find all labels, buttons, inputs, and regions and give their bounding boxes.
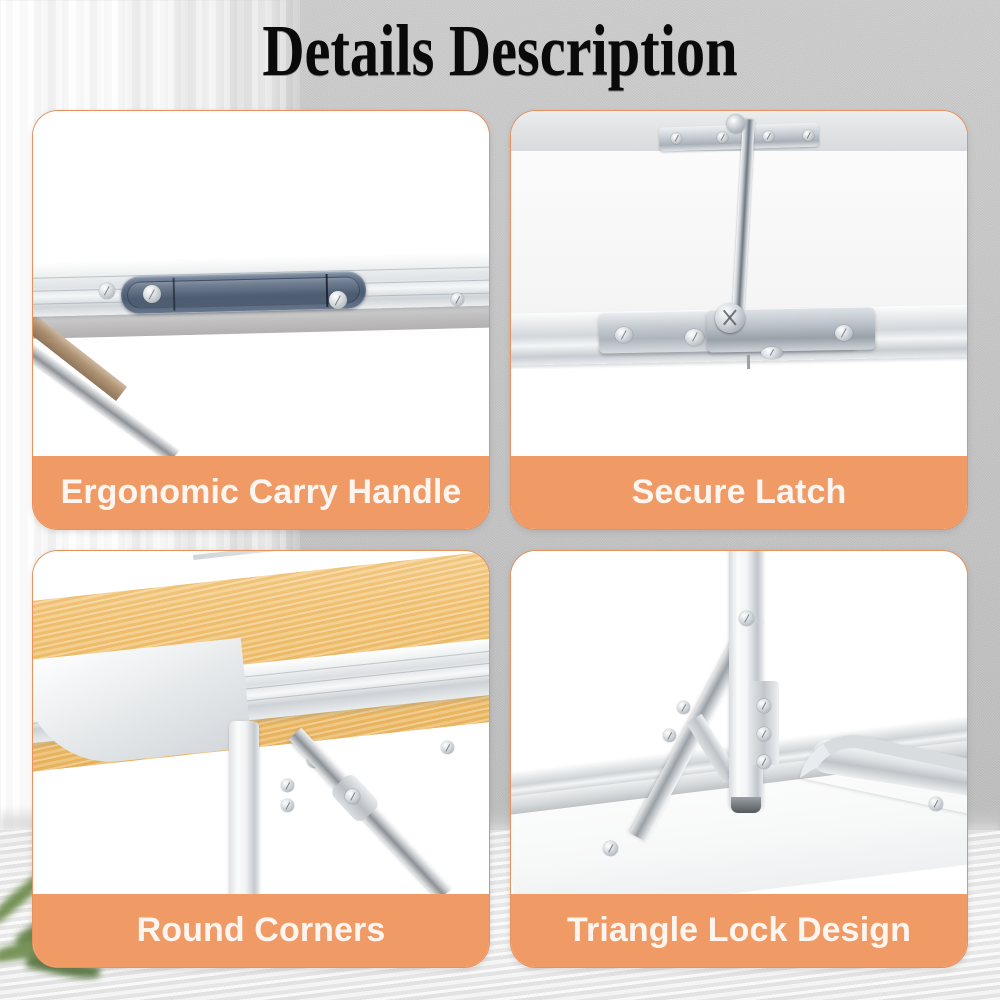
latch-screw-right	[835, 325, 853, 341]
frame-screw-right	[929, 797, 943, 811]
latch-screw-mid	[685, 329, 704, 346]
photo-triangle-lock	[511, 551, 967, 894]
leg-foot-cap	[731, 797, 761, 813]
latch-screw-lower	[761, 347, 783, 359]
panel-round-corners[interactable]: Round Corners	[32, 550, 490, 968]
hinge-screw-4	[803, 130, 814, 141]
hinge-screw-1	[671, 133, 682, 144]
latch-screw-left	[615, 327, 633, 343]
hinge-screw-2	[717, 132, 728, 143]
rail-split-gap	[747, 355, 750, 369]
brace-pivot-screw	[345, 789, 360, 804]
bracket-screw-3	[757, 755, 771, 769]
table-leg-tube	[729, 551, 763, 809]
brace-mid-rivet	[677, 701, 690, 714]
rod-pivot-ball	[727, 115, 745, 133]
bracket-screw-2	[757, 727, 771, 741]
panel-caption-secure-latch: Secure Latch	[511, 456, 967, 529]
caption-text: Triangle Lock Design	[567, 911, 911, 950]
caption-text: Ergonomic Carry Handle	[61, 473, 462, 512]
caption-text: Round Corners	[137, 911, 386, 950]
panel-caption-round-corners: Round Corners	[33, 894, 489, 967]
panel-carry-handle[interactable]: Ergonomic Carry Handle	[32, 110, 490, 530]
table-leg-tube	[229, 721, 259, 894]
leg-screw-top	[739, 611, 754, 626]
handle-screw-left	[143, 285, 161, 303]
rail-screw-left	[99, 283, 115, 299]
feature-panel-grid: Ergonomic Carry Handle	[32, 110, 968, 968]
leg-mount-bracket	[749, 681, 779, 765]
panel-triangle-lock[interactable]: Triangle Lock Design	[510, 550, 968, 968]
leg-brace-bar	[33, 344, 179, 456]
panel-caption-triangle-lock: Triangle Lock Design	[511, 894, 967, 967]
rail-screw-right	[451, 293, 464, 306]
edge-screw-right	[441, 741, 454, 754]
panel-secure-latch[interactable]: Secure Latch	[510, 110, 968, 530]
panel-caption-carry-handle: Ergonomic Carry Handle	[33, 456, 489, 529]
bracket-screw-1	[757, 699, 771, 713]
infographic-canvas: Details Description	[0, 0, 1000, 1000]
lower-white-area	[511, 369, 967, 456]
photo-carry-handle	[33, 111, 489, 456]
leg-rivet-top	[281, 779, 294, 792]
photo-secure-latch	[511, 111, 967, 456]
caption-text: Secure Latch	[632, 473, 847, 512]
photo-round-corners	[33, 551, 489, 894]
brace-end-rivet	[663, 729, 676, 742]
brace-foot-rivet	[603, 841, 618, 856]
handle-screw-right	[329, 291, 347, 309]
page-title: Details Description	[100, 14, 900, 88]
latch-center-bolt	[715, 303, 745, 333]
leg-rivet-bottom	[281, 799, 294, 812]
hinge-screw-3	[763, 131, 774, 142]
